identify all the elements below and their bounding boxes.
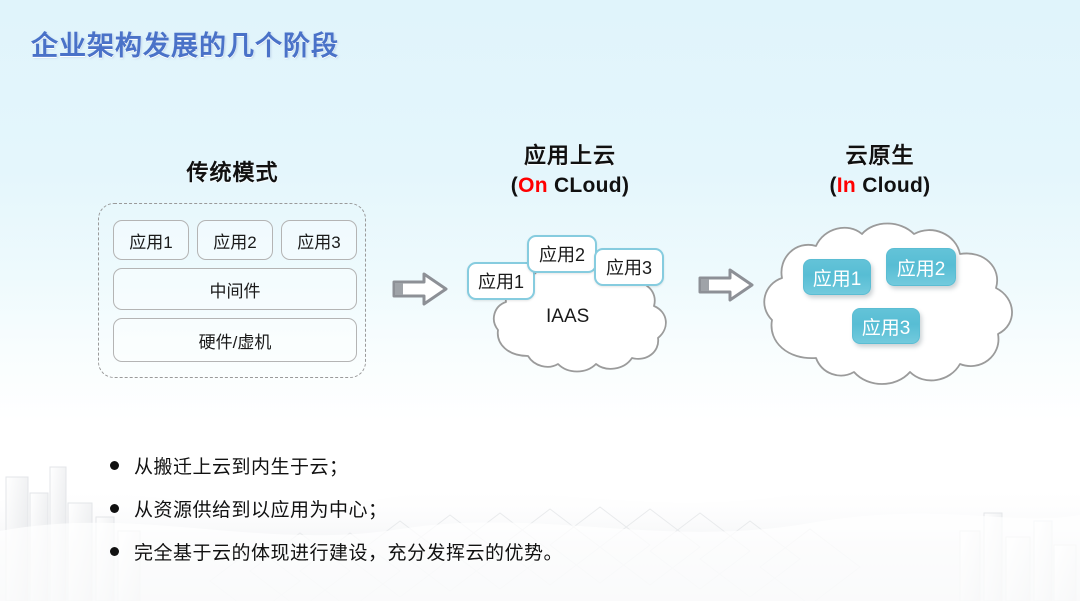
heading-cloud-native-en: (In Cloud) — [760, 174, 1000, 198]
on-cloud-app3-box: 应用3 — [594, 248, 664, 286]
on-cloud-app1-box: 应用1 — [467, 262, 535, 300]
heading-accent-in: In — [837, 174, 856, 197]
traditional-app1-box: 应用1 — [113, 220, 189, 260]
cloud-native-app2-box: 应用2 — [886, 248, 956, 286]
heading-rest-cloud-2: Cloud) — [856, 174, 930, 197]
heading-cloud-native-cn: 云原生 — [760, 138, 1000, 170]
list-item: 完全基于云的体现进行建设，充分发挥云的优势。 — [110, 538, 563, 565]
right-arrow-icon-2 — [698, 268, 754, 302]
bullet-dot-icon — [110, 547, 119, 556]
bullet-text-1: 从搬迁上云到内生于云； — [134, 452, 349, 479]
list-item: 从搬迁上云到内生于云； — [110, 452, 563, 479]
traditional-hardware-box: 硬件/虚机 — [113, 318, 357, 362]
heading-on-cloud-en: (On CLoud) — [450, 174, 690, 198]
right-arrow-icon-1 — [392, 272, 448, 306]
heading-accent-on: On — [518, 174, 548, 197]
column-heading-on-cloud: 应用上云 (On CLoud) — [450, 138, 690, 198]
column-heading-cloud-native: 云原生 (In Cloud) — [760, 138, 1000, 198]
list-item: 从资源供给到以应用为中心； — [110, 495, 563, 522]
traditional-stack-container: 应用1 应用2 应用3 中间件 硬件/虚机 — [98, 203, 366, 378]
bullet-dot-icon — [110, 504, 119, 513]
cloud-outline-icon-large — [758, 218, 1020, 390]
traditional-middleware-box: 中间件 — [113, 268, 357, 310]
traditional-app2-box: 应用2 — [197, 220, 273, 260]
on-cloud-app2-box: 应用2 — [527, 235, 597, 273]
column-heading-traditional: 传统模式 — [110, 155, 355, 187]
bullet-list: 从搬迁上云到内生于云； 从资源供给到以应用为中心； 完全基于云的体现进行建设，充… — [110, 452, 563, 581]
bullet-text-3: 完全基于云的体现进行建设，充分发挥云的优势。 — [134, 538, 563, 565]
iaas-cloud-label: IAAS — [546, 306, 589, 328]
slide-title: 企业架构发展的几个阶段 — [31, 24, 339, 63]
heading-rest-cloud: CLoud) — [548, 174, 629, 197]
cloud-native-cloud — [758, 218, 1020, 395]
heading-traditional-cn: 传统模式 — [110, 155, 355, 187]
heading-paren-open: ( — [511, 174, 518, 197]
heading-paren-open-2: ( — [830, 174, 837, 197]
heading-on-cloud-cn: 应用上云 — [450, 138, 690, 170]
bullet-dot-icon — [110, 461, 119, 470]
bullet-text-2: 从资源供给到以应用为中心； — [134, 495, 388, 522]
cloud-native-app3-box: 应用3 — [852, 308, 920, 344]
slide-canvas: 企业架构发展的几个阶段 传统模式 应用1 应用2 应用3 中间件 硬件/虚机 应… — [0, 0, 1080, 601]
cloud-native-app1-box: 应用1 — [803, 259, 871, 295]
traditional-app3-box: 应用3 — [281, 220, 357, 260]
